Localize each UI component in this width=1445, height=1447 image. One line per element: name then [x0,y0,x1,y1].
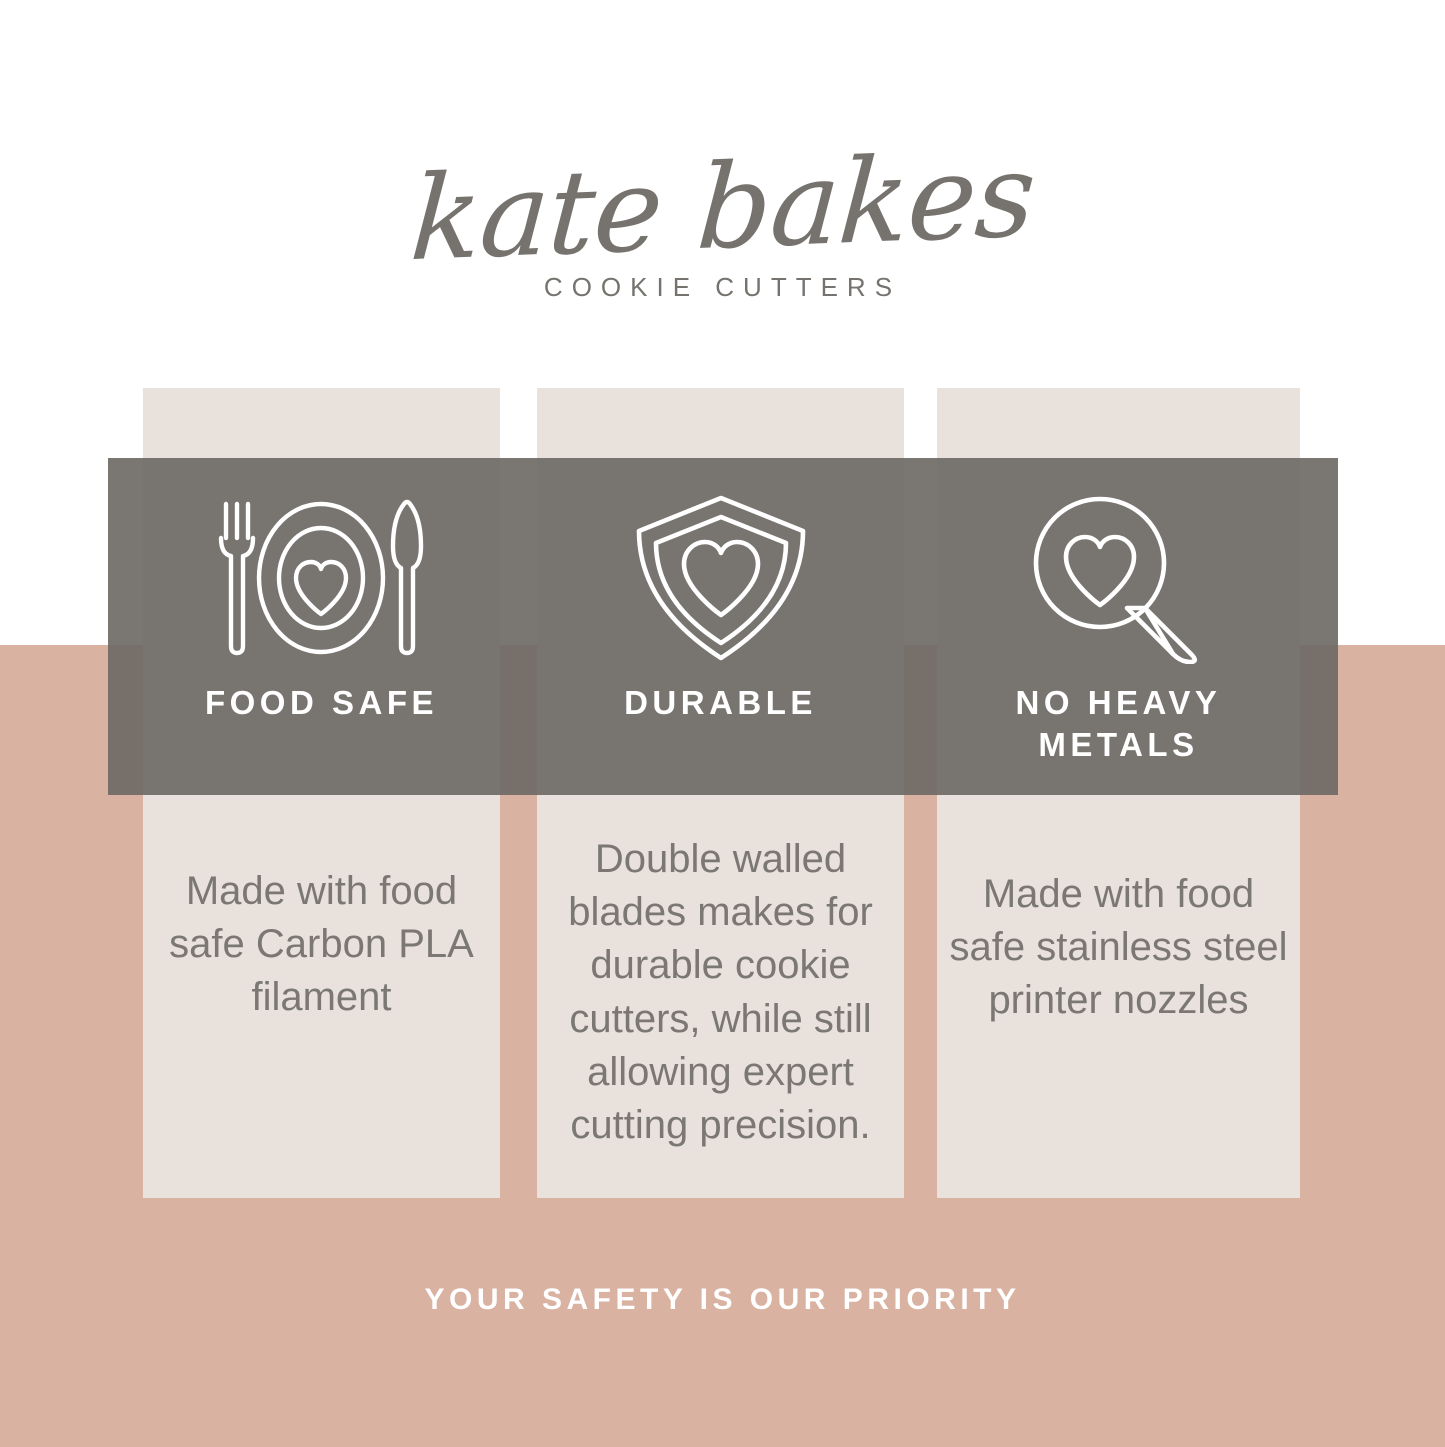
feature-cell-no-heavy-metals: NO HEAVY METALS [937,458,1300,795]
feature-description-3: Made with food safe stainless steel prin… [944,868,1293,1028]
brand-script-name: kate bakes [407,138,1038,278]
feature-cell-food-safe: FOOD SAFE [143,458,500,795]
magnifier-heart-icon [1027,488,1211,668]
footer-tagline: YOUR SAFETY IS OUR PRIORITY [0,1283,1445,1317]
feature-description-1: Made with food safe Carbon PLA filament [150,865,493,1025]
feature-label: FOOD SAFE [205,682,438,724]
feature-label: DURABLE [624,682,817,724]
brand-logo: kate bakes COOKIE CUTTERS [0,150,1445,303]
plate-cutlery-heart-icon [214,488,429,668]
feature-cell-durable: DURABLE [537,458,904,795]
infographic-canvas: kate bakes COOKIE CUTTERS FOOD SAFE [0,0,1445,1447]
brand-tagline: COOKIE CUTTERS [0,272,1445,303]
shield-heart-icon [633,488,809,668]
feature-label: NO HEAVY METALS [1016,682,1222,765]
feature-description-2: Double walled blades makes for durable c… [545,833,896,1152]
